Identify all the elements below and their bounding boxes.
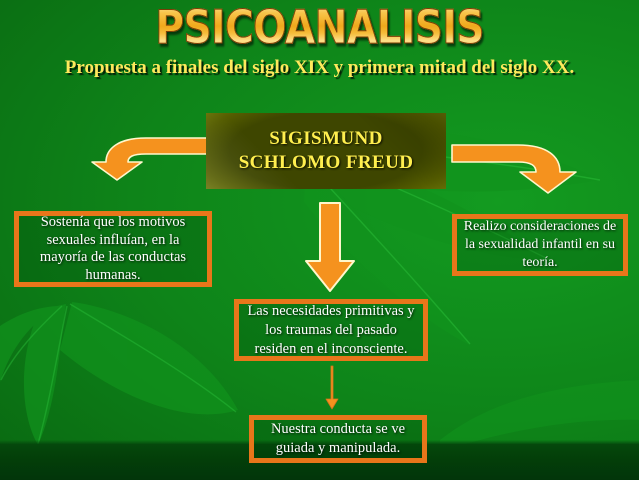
freud-line-1: SIGISMUND [269, 127, 382, 151]
page-title: PSICOANALISIS [45, 2, 595, 52]
leaf-decoration-left [0, 290, 250, 455]
text-box-left: Sostenía que los motivos sexuales influí… [14, 211, 212, 287]
freud-line-2: SCHLOMO FREUD [239, 151, 414, 175]
center-name-box: SIGISMUND SCHLOMO FREUD [206, 113, 446, 189]
text-box-left-label: Sostenía que los motivos sexuales influí… [19, 214, 207, 284]
text-box-right: Realizo consideraciones de la sexualidad… [452, 214, 628, 276]
page-subtitle: Propuesta a finales del siglo XIX y prim… [0, 56, 639, 80]
thin-arrow-down [324, 366, 340, 410]
text-box-middle: Las necesidades primitivas y los traumas… [234, 299, 428, 361]
text-box-right-label: Realizo consideraciones de la sexualidad… [457, 218, 623, 272]
text-box-middle-label: Las necesidades primitivas y los traumas… [239, 302, 423, 359]
center-name-box-text: SIGISMUND SCHLOMO FREUD [206, 113, 446, 189]
curved-arrow-down-right [452, 142, 584, 194]
curved-arrow-down-left [80, 133, 210, 181]
slide-canvas: PSICOANALISIS Propuesta a finales del si… [0, 0, 639, 480]
text-box-bottom-label: Nuestra conducta se ve guiada y manipula… [254, 420, 422, 458]
block-arrow-down [302, 201, 358, 294]
text-box-bottom: Nuestra conducta se ve guiada y manipula… [249, 415, 427, 463]
